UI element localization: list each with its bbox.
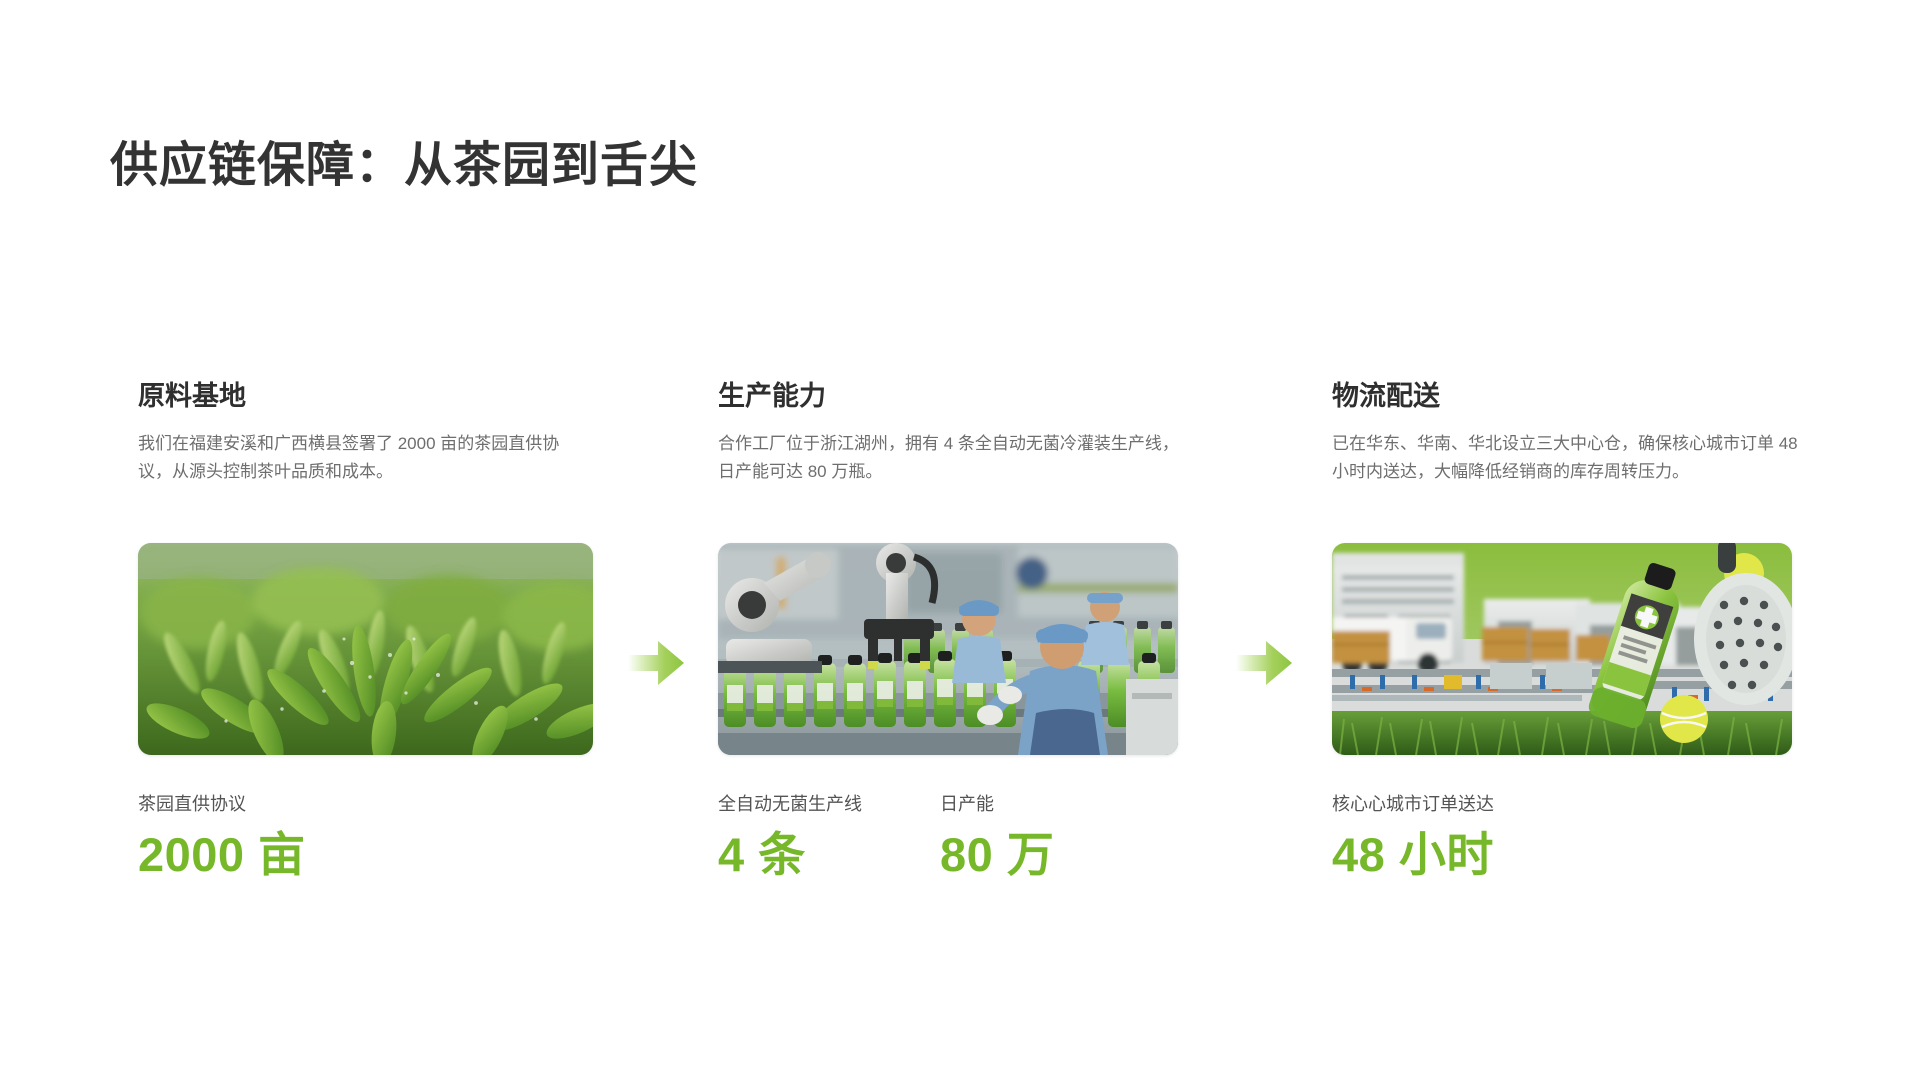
slide-root: 供应链保障：从茶园到舌尖 原料基地 我们在福建安溪和广西横县签署了 2000 亩… — [0, 0, 1920, 1080]
photo-production-line — [718, 543, 1178, 755]
stat-label: 全自动无菌生产线 — [718, 793, 862, 816]
arrow-right-icon-1 — [628, 638, 684, 688]
stat-value: 2000 亩 — [138, 830, 306, 879]
stat-item: 核心心城市订单送达 48 小时 — [1332, 793, 1494, 880]
photo-logistics-warehouse — [1332, 543, 1792, 755]
column-heading: 生产能力 — [718, 380, 1188, 412]
stat-item: 全自动无菌生产线 4 条 — [718, 793, 862, 880]
stats-group: 全自动无菌生产线 4 条 日产能 80 万 — [718, 793, 1054, 880]
stats-group: 核心心城市订单送达 48 小时 — [1332, 793, 1494, 880]
column-body: 合作工厂位于浙江湖州，拥有 4 条全自动无菌冷灌装生产线，日产能可达 80 万瓶… — [718, 430, 1188, 485]
column-heading: 物流配送 — [1332, 380, 1800, 412]
stat-value: 80 万 — [940, 830, 1054, 879]
stat-label: 核心心城市订单送达 — [1332, 793, 1494, 816]
column-heading: 原料基地 — [138, 380, 586, 412]
column-logistics: 物流配送 已在华东、华南、华北设立三大中心仓，确保核心城市订单 48 小时内送达… — [1332, 380, 1800, 485]
stat-value: 48 小时 — [1332, 830, 1494, 879]
arrow-right-icon-2 — [1236, 638, 1292, 688]
stat-label: 茶园直供协议 — [138, 793, 306, 816]
stats-group: 茶园直供协议 2000 亩 — [138, 793, 306, 880]
column-raw-material: 原料基地 我们在福建安溪和广西横县签署了 2000 亩的茶园直供协议，从源头控制… — [138, 380, 586, 485]
stat-item: 日产能 80 万 — [940, 793, 1054, 880]
column-body: 已在华东、华南、华北设立三大中心仓，确保核心城市订单 48 小时内送达，大幅降低… — [1332, 430, 1800, 485]
photo-tea-garden — [138, 543, 593, 755]
supply-chain-columns: 原料基地 我们在福建安溪和广西横县签署了 2000 亩的茶园直供协议，从源头控制… — [110, 380, 1810, 940]
stat-value: 4 条 — [718, 830, 862, 879]
column-production: 生产能力 合作工厂位于浙江湖州，拥有 4 条全自动无菌冷灌装生产线，日产能可达 … — [718, 380, 1188, 485]
page-title: 供应链保障：从茶园到舌尖 — [110, 136, 698, 196]
stat-item: 茶园直供协议 2000 亩 — [138, 793, 306, 880]
column-body: 我们在福建安溪和广西横县签署了 2000 亩的茶园直供协议，从源头控制茶叶品质和… — [138, 430, 586, 485]
stat-label: 日产能 — [940, 793, 1054, 816]
